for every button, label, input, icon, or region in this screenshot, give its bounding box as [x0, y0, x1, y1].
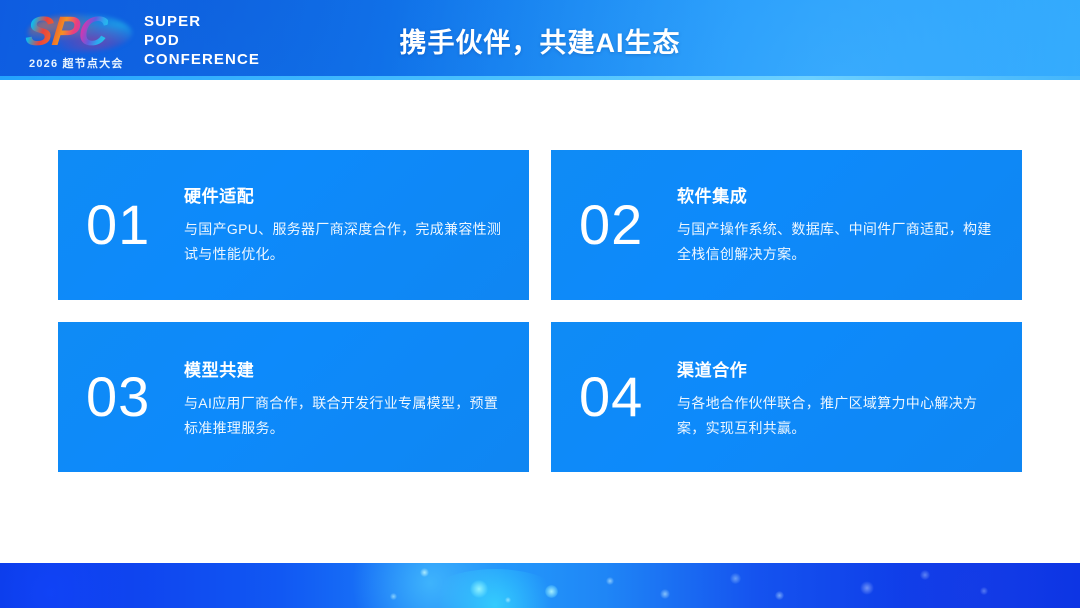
logo-word-pod: POD [144, 31, 260, 50]
band-glow-right [840, 563, 1080, 608]
band-glow-blue-left [0, 563, 160, 608]
slide-root: SPC 2026 超节点大会 SUPER POD CONFERENCE 携手伙伴… [0, 0, 1080, 608]
bokeh-particle [920, 570, 930, 580]
partner-card-01[interactable]: 01 硬件适配 与国产GPU、服务器厂商深度合作，完成兼容性测试与性能优化。 [58, 150, 529, 300]
bokeh-particle [980, 587, 988, 595]
band-glow-cyan [330, 563, 530, 608]
card-number: 04 [573, 369, 677, 425]
logo-word-conference: CONFERENCE [144, 50, 260, 69]
partner-cards-grid: 01 硬件适配 与国产GPU、服务器厂商深度合作，完成兼容性测试与性能优化。 0… [58, 150, 1022, 472]
card-title: 软件集成 [677, 186, 996, 208]
bokeh-particle [545, 585, 558, 598]
bokeh-particle [775, 591, 784, 600]
partner-card-03[interactable]: 03 模型共建 与AI应用厂商合作，联合开发行业专属模型，预置标准推理服务。 [58, 322, 529, 472]
card-title: 硬件适配 [184, 186, 503, 208]
card-content: 模型共建 与AI应用厂商合作，联合开发行业专属模型，预置标准推理服务。 [184, 354, 503, 441]
card-title: 模型共建 [184, 360, 503, 382]
bokeh-particle [505, 597, 511, 603]
header-underline [0, 76, 1080, 80]
logo-subtitle-cn: 2026 超节点大会 [29, 55, 124, 71]
bokeh-particle [420, 568, 429, 577]
card-number: 02 [573, 197, 677, 253]
bokeh-particle [606, 577, 614, 585]
bokeh-particle [730, 573, 741, 584]
card-content: 硬件适配 与国产GPU、服务器厂商深度合作，完成兼容性测试与性能优化。 [184, 184, 503, 267]
partner-card-04[interactable]: 04 渠道合作 与各地合作伙伴联合，推广区域算力中心解决方案，实现互利共赢。 [551, 322, 1022, 472]
footer-decorative-band [0, 563, 1080, 608]
card-content: 软件集成 与国产操作系统、数据库、中间件厂商适配，构建全栈信创解决方案。 [677, 184, 996, 267]
partner-card-02[interactable]: 02 软件集成 与国产操作系统、数据库、中间件厂商适配，构建全栈信创解决方案。 [551, 150, 1022, 300]
logo-word-super: SUPER [144, 12, 260, 31]
card-description: 与国产操作系统、数据库、中间件厂商适配，构建全栈信创解决方案。 [677, 217, 996, 267]
conference-logo: SPC 2026 超节点大会 SUPER POD CONFERENCE [26, 9, 266, 73]
logo-spc-text: SPC [24, 9, 110, 53]
bokeh-particle [860, 581, 874, 595]
card-number: 03 [80, 369, 184, 425]
card-title: 渠道合作 [677, 360, 996, 382]
card-description: 与各地合作伙伴联合，推广区域算力中心解决方案，实现互利共赢。 [677, 391, 996, 441]
card-description: 与国产GPU、服务器厂商深度合作，完成兼容性测试与性能优化。 [184, 217, 503, 267]
bokeh-particle [390, 593, 397, 600]
card-number: 01 [80, 197, 184, 253]
band-glow-teal [420, 569, 570, 608]
bokeh-particle [470, 580, 488, 598]
bokeh-particle [660, 589, 670, 599]
card-description: 与AI应用厂商合作，联合开发行业专属模型，预置标准推理服务。 [184, 391, 503, 441]
logo-wordmark: SUPER POD CONFERENCE [144, 9, 260, 69]
logo-mark: SPC 2026 超节点大会 [26, 9, 138, 73]
card-content: 渠道合作 与各地合作伙伴联合，推广区域算力中心解决方案，实现互利共赢。 [677, 354, 996, 441]
